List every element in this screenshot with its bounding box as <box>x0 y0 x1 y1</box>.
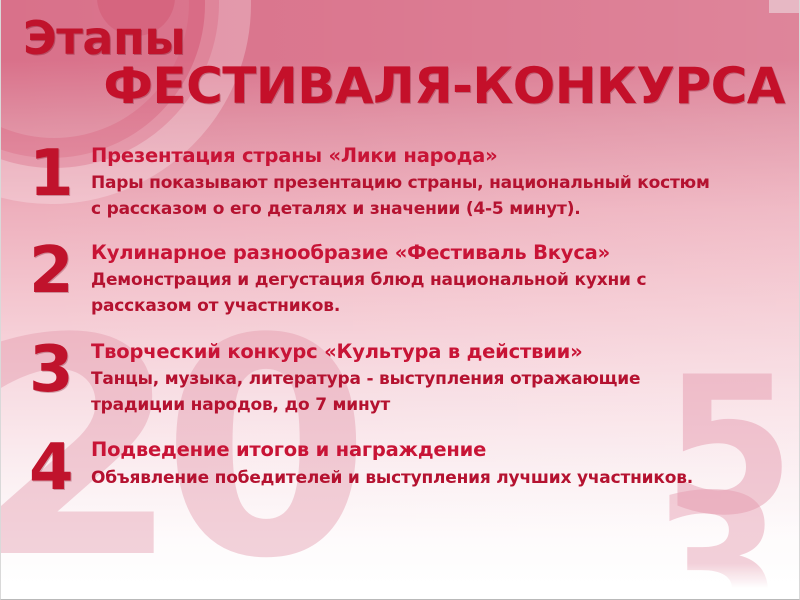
stage-item: 2 Кулинарное разнообразие «Фестиваль Вку… <box>1 239 800 320</box>
stage-description-line: с рассказом о его деталях и значении (4-… <box>91 197 800 223</box>
title-line-1: Этапы <box>1 14 800 62</box>
presentation-slide: 20 5 3 Этапы ФЕСТИВАЛЯ-КОНКУРСА 1 Презен… <box>0 0 800 600</box>
stage-heading: Презентация страны «Лики народа» <box>91 144 800 168</box>
stage-number: 4 <box>29 436 91 500</box>
bottom-fade-mask <box>1 563 799 599</box>
stage-heading: Кулинарное разнообразие «Фестиваль Вкуса… <box>91 241 800 265</box>
stage-description-line: Объявление победителей и выступления луч… <box>91 466 800 492</box>
stage-heading: Творческий конкурс «Культура в действии» <box>91 340 800 364</box>
stage-item: 4 Подведение итогов и награждение Объявл… <box>1 436 800 500</box>
stage-content: Творческий конкурс «Культура в действии»… <box>91 338 800 419</box>
stage-item: 1 Презентация страны «Лики народа» Пары … <box>1 142 800 223</box>
stage-content: Презентация страны «Лики народа» Пары по… <box>91 142 800 223</box>
stage-description-line: Пары показывают презентацию страны, наци… <box>91 171 800 197</box>
stage-content: Кулинарное разнообразие «Фестиваль Вкуса… <box>91 239 800 320</box>
slide-title-block: Этапы ФЕСТИВАЛЯ-КОНКУРСА <box>1 14 800 113</box>
stage-number: 2 <box>29 239 91 303</box>
stage-heading: Подведение итогов и награждение <box>91 438 800 462</box>
stage-content: Подведение итогов и награждение Объявлен… <box>91 436 800 491</box>
stage-description-line: традиции народов, до 7 минут <box>91 393 800 419</box>
stage-number: 3 <box>29 338 91 402</box>
stage-description-line: рассказом от участников. <box>91 294 800 320</box>
stage-description-line: Демонстрация и дегустация блюд националь… <box>91 268 800 294</box>
stage-description-line: Танцы, музыка, литература - выступления … <box>91 367 800 393</box>
corner-accent-patch <box>769 0 799 13</box>
stages-list: 1 Презентация страны «Лики народа» Пары … <box>1 142 800 500</box>
stage-item: 3 Творческий конкурс «Культура в действи… <box>1 338 800 419</box>
title-line-2: ФЕСТИВАЛЯ-КОНКУРСА <box>1 60 800 113</box>
stage-number: 1 <box>29 142 91 206</box>
